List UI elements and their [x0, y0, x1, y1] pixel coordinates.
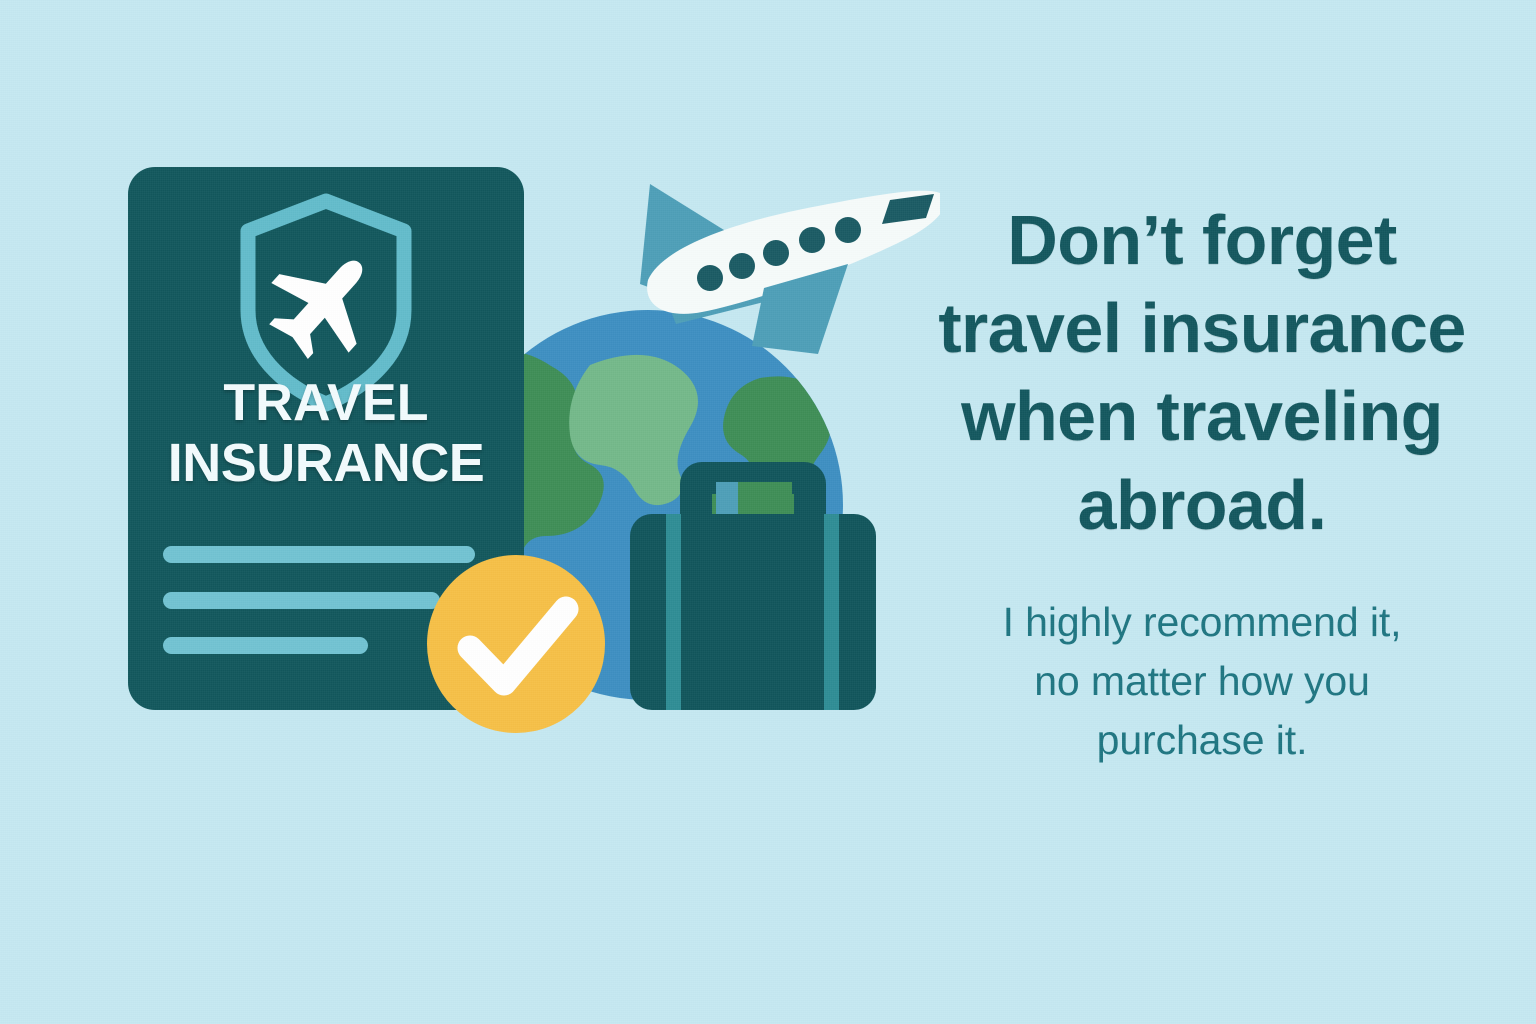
message-block: Don’t forget travel insurance when trave… — [912, 196, 1492, 770]
headline-line-3: when traveling — [912, 372, 1492, 460]
subcopy-line-2: no matter how you — [912, 652, 1492, 711]
card-title-line-1: TRAVEL — [128, 374, 524, 433]
card-title-line-2: INSURANCE — [128, 433, 524, 494]
subcopy-line-3: purchase it. — [912, 711, 1492, 770]
check-circle-icon — [427, 555, 605, 733]
headline-line-2: travel insurance — [912, 284, 1492, 372]
card-placeholder-line — [163, 592, 440, 609]
subcopy: I highly recommend it, no matter how you… — [912, 593, 1492, 770]
poster-canvas: TRAVEL INSURANCE Don’t forget travel ins… — [0, 0, 1536, 1024]
headline: Don’t forget travel insurance when trave… — [912, 196, 1492, 549]
card-title: TRAVEL INSURANCE — [128, 374, 524, 494]
subcopy-line-1: I highly recommend it, — [912, 593, 1492, 652]
card-placeholder-line — [163, 546, 475, 563]
card-placeholder-line — [163, 637, 368, 654]
headline-line-4: abroad. — [912, 461, 1492, 549]
illustration-group — [0, 0, 940, 1024]
headline-line-1: Don’t forget — [912, 196, 1492, 284]
